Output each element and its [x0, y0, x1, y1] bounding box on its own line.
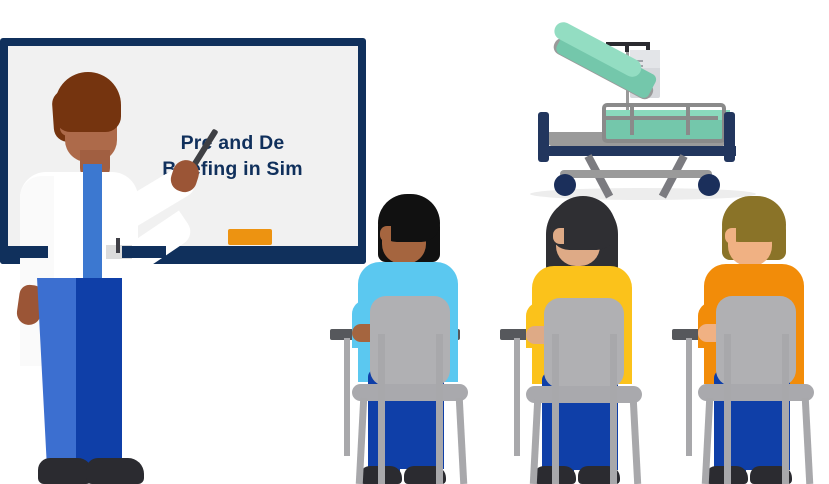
- chair-two-leg-3: [610, 334, 617, 484]
- chair-three-leg-3: [782, 334, 789, 484]
- illustration-scene: Pre and De Briefing in Sim: [0, 0, 829, 484]
- chair-one-leg-2: [378, 334, 385, 484]
- instructor-figure: [0, 60, 200, 484]
- bed-side-rail-post-2: [686, 103, 690, 135]
- chair-three-leg-2: [724, 334, 731, 484]
- chair-two-leg-4: [630, 400, 641, 484]
- chair-three-seat: [698, 384, 814, 401]
- chair-one-leg-3: [436, 334, 443, 484]
- instructor-left-shoe: [38, 458, 92, 484]
- chair-two-seat: [526, 386, 642, 403]
- student-one: [330, 184, 495, 484]
- student-three-ear: [725, 228, 736, 244]
- chair-one-leg-4: [456, 398, 467, 484]
- instructor-hair: [55, 72, 121, 132]
- student-two: [500, 184, 665, 484]
- chair-three-leg-4: [802, 398, 813, 484]
- bed-base-bar: [560, 170, 712, 178]
- student-two-ear: [553, 228, 564, 244]
- desk-leg-two-front: [514, 338, 520, 456]
- instructor-left-cuff: [14, 246, 48, 258]
- hospital-bed: [520, 30, 780, 205]
- iv-hook-center-icon: [625, 42, 629, 52]
- bed-frame-bar: [538, 146, 736, 156]
- bed-side-rail: [602, 103, 726, 143]
- bed-side-rail-crossbar: [602, 116, 718, 120]
- instructor-right-cuff: [122, 246, 166, 258]
- bed-side-rail-post-1: [630, 103, 634, 135]
- chair-one-seat: [352, 384, 468, 401]
- instructor-right-leg: [76, 278, 122, 468]
- desk-leg-one-front: [344, 338, 350, 456]
- student-one-ear: [380, 226, 391, 242]
- desk-leg-three-front: [686, 338, 692, 456]
- pen-icon: [116, 238, 120, 253]
- instructor-right-shoe: [86, 458, 144, 484]
- student-three: [672, 184, 829, 484]
- whiteboard-eraser: [228, 229, 272, 245]
- chair-two-leg-2: [552, 334, 559, 484]
